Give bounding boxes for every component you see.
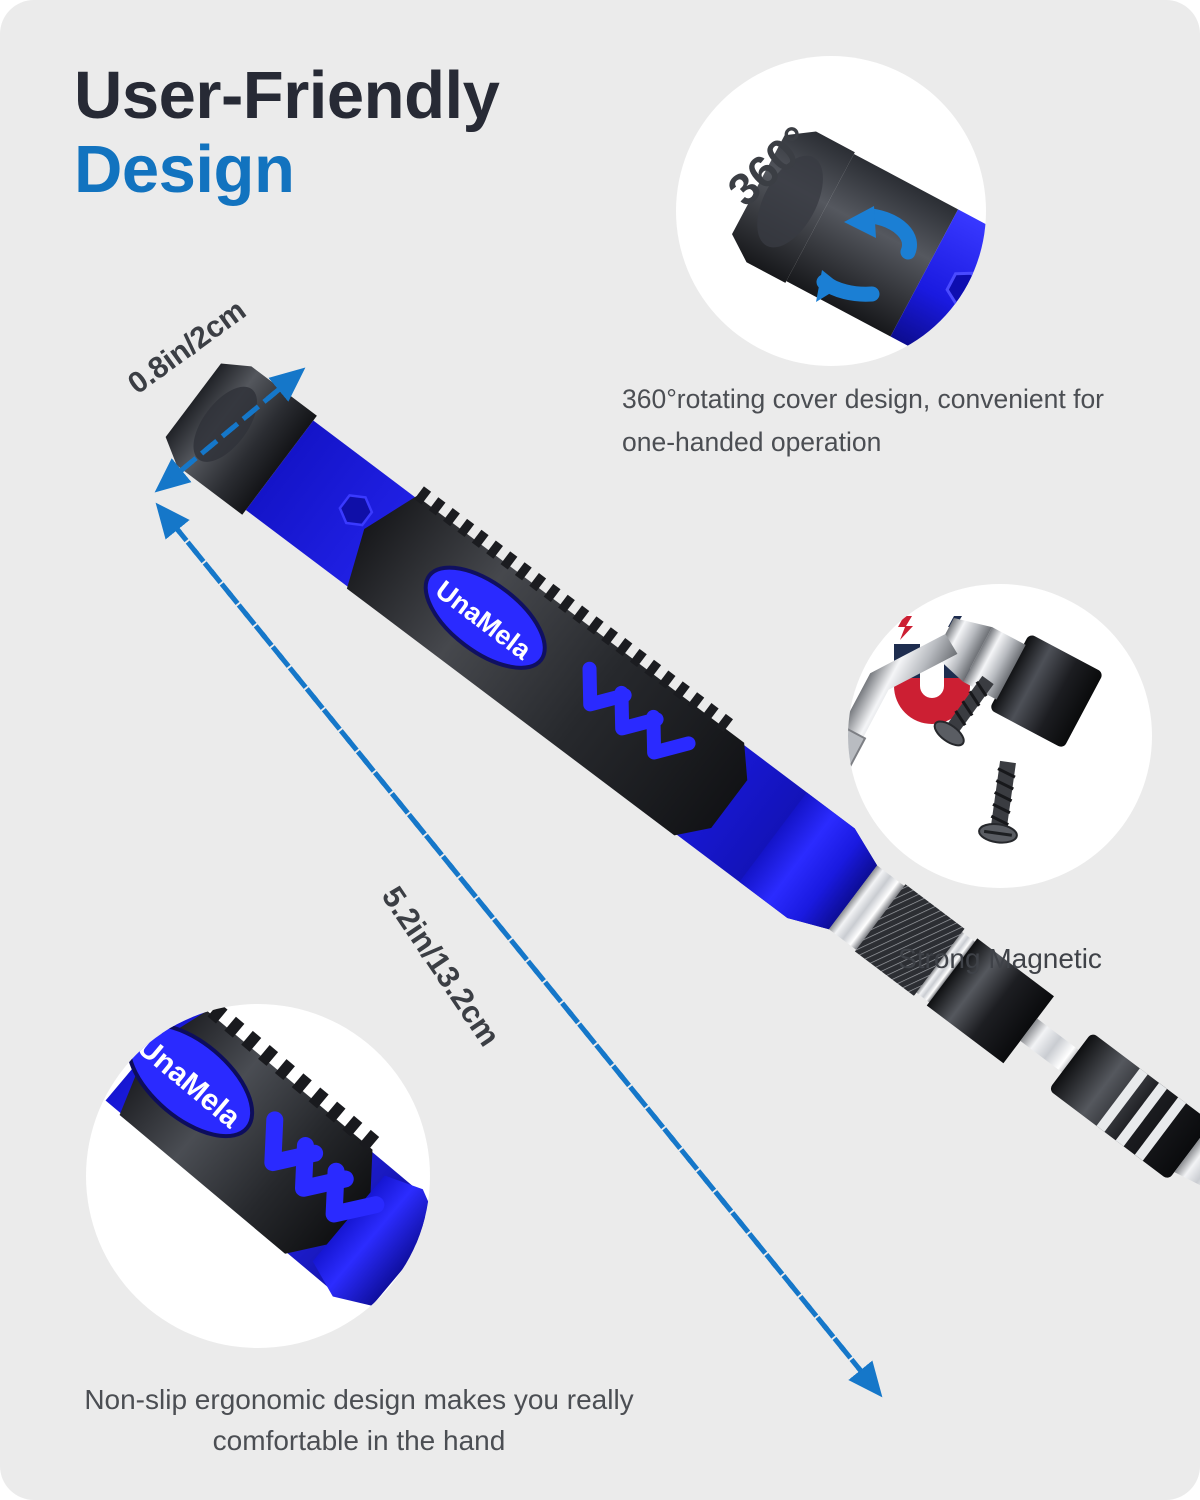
rotating-cover-caption: 360°rotating cover design, convenient fo… — [622, 378, 1122, 464]
page-title: User-Friendly Design — [74, 62, 499, 205]
headline-line-1: User-Friendly — [74, 62, 499, 130]
screw-icon — [978, 759, 1027, 845]
headline-line-2: Design — [74, 136, 499, 204]
ergonomic-grip-caption: Non-slip ergonomic design makes you real… — [44, 1380, 674, 1461]
strong-magnetic-caption: Strong Magnetic — [828, 936, 1172, 981]
chevron-arrows-icon — [573, 669, 689, 766]
ergonomic-grip-photo: UnaMela — [86, 1004, 430, 1348]
brand-label: UnaMela — [430, 575, 538, 666]
strong-magnetic-photo: S N — [848, 584, 1152, 888]
rotating-cover-photo — [676, 56, 986, 366]
width-dimension-line — [160, 372, 300, 488]
product-infographic: User-Friendly Design — [0, 0, 1200, 1500]
width-dimension-label: 0.8in/2cm — [122, 294, 253, 402]
brand-badge — [409, 548, 562, 687]
